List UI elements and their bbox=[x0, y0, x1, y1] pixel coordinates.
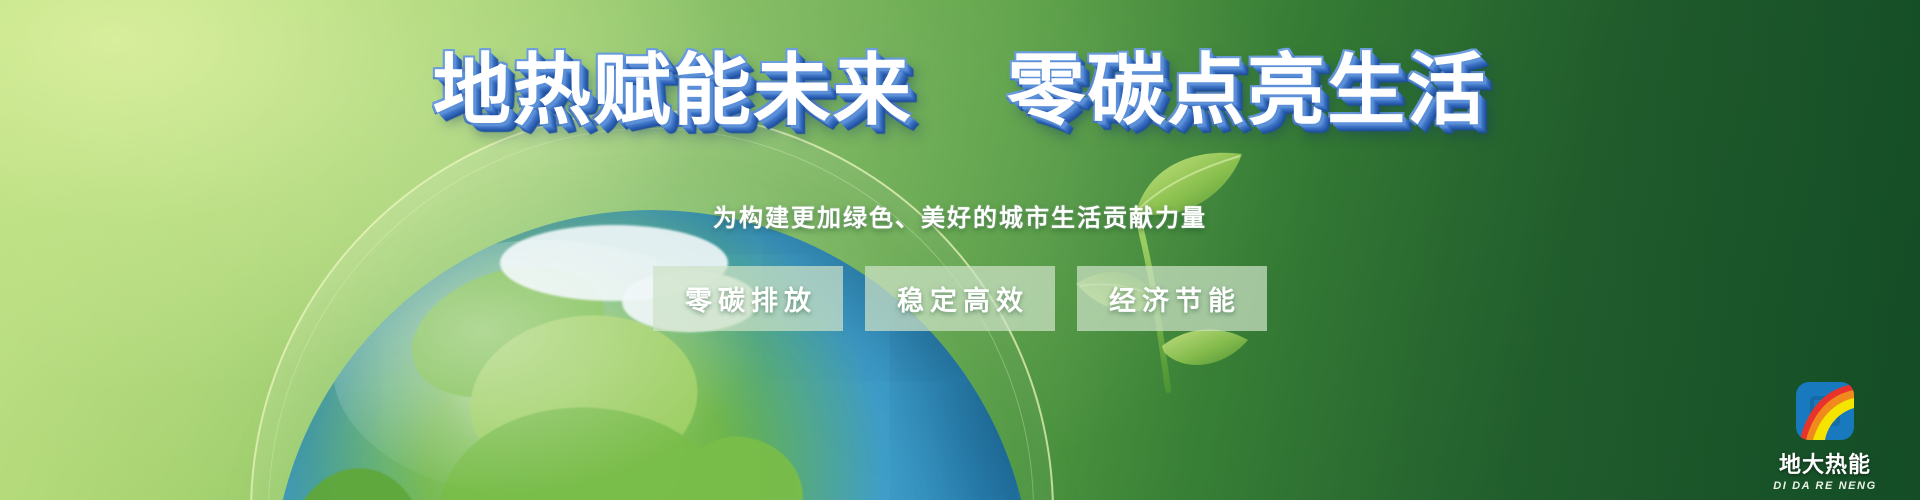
feature-badge-economic-saving[interactable]: 经济节能 bbox=[1077, 266, 1267, 331]
banner-content: 地热赋能未来 零碳点亮生活 为构建更加绿色、美好的城市生活贡献力量 零碳排放 稳… bbox=[0, 0, 1920, 500]
company-name-cn: 地大热能 bbox=[1754, 447, 1896, 479]
didareneng-logo-icon bbox=[1792, 378, 1858, 444]
banner-title-line2: 零碳点亮生活 bbox=[1007, 46, 1487, 136]
company-logo[interactable]: 地大热能 DI DA RE NENG bbox=[1754, 378, 1896, 492]
banner-title-line1: 地热赋能未来 bbox=[433, 46, 913, 136]
company-name-en: DI DA RE NENG bbox=[1754, 480, 1896, 492]
feature-badge-list: 零碳排放 稳定高效 经济节能 bbox=[0, 266, 1920, 331]
hero-banner: 地热赋能未来 零碳点亮生活 为构建更加绿色、美好的城市生活贡献力量 零碳排放 稳… bbox=[0, 0, 1920, 500]
banner-title: 地热赋能未来 零碳点亮生活 bbox=[0, 52, 1920, 130]
banner-subtitle: 为构建更加绿色、美好的城市生活贡献力量 bbox=[0, 198, 1920, 233]
feature-badge-zero-carbon[interactable]: 零碳排放 bbox=[653, 266, 843, 331]
feature-badge-stable-efficient[interactable]: 稳定高效 bbox=[865, 266, 1055, 331]
